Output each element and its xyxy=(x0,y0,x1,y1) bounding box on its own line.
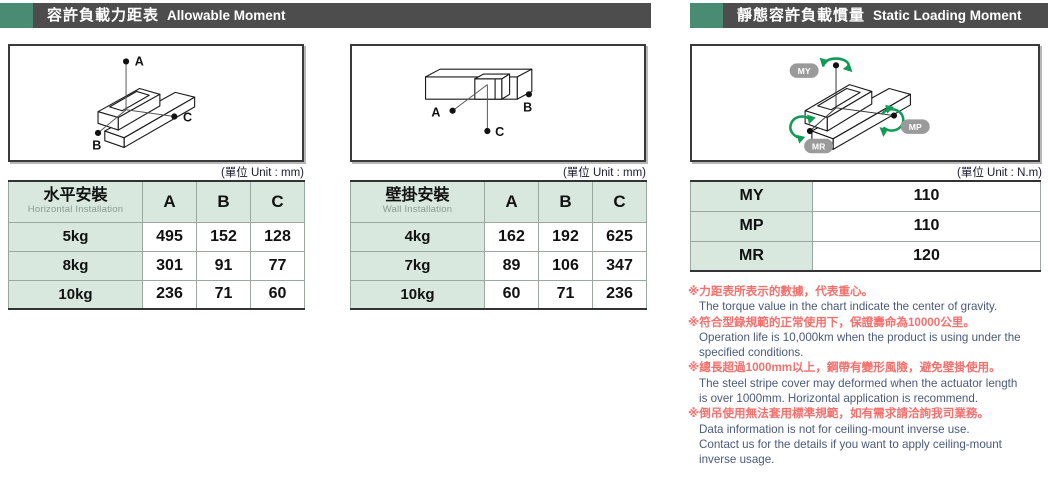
footnote-cn: ※總長超過1000mm以上，鋼帶有變形風險，避免壁掛使用。 xyxy=(688,360,1040,375)
svg-text:B: B xyxy=(92,138,101,152)
my-pill: MY xyxy=(790,63,819,77)
unit-caption-moment: (單位 Unit : N.m) xyxy=(790,164,1042,180)
table-header-cn: 壁掛安裝 xyxy=(352,188,483,205)
datasheet-page: 容許負載力距表 Allowable Moment A xyxy=(0,0,1048,479)
column-header-b: B xyxy=(539,181,593,222)
moment-label-my: MY xyxy=(691,181,813,211)
header-bar: 容許負載力距表 Allowable Moment xyxy=(33,3,651,28)
row-label: 7kg xyxy=(351,251,485,280)
row-label: 10kg xyxy=(351,280,485,309)
horizontal-installation-table: 水平安裝 Horizontal Installation A B C 5kg 4… xyxy=(8,180,305,310)
table-row: MR 120 xyxy=(691,241,1041,271)
cell-b: 91 xyxy=(197,251,251,280)
cell-c: 236 xyxy=(593,280,647,309)
column-header-a: A xyxy=(143,181,197,222)
cell-b: 71 xyxy=(197,280,251,309)
allowable-moment-section-header: 容許負載力距表 Allowable Moment xyxy=(0,3,651,28)
table-row: MP 110 xyxy=(691,211,1041,241)
unit-caption-horizontal: (單位 Unit : mm) xyxy=(54,164,304,180)
table-row: 7kg 89 106 347 xyxy=(351,251,647,280)
moment-label-mp: MP xyxy=(691,211,813,241)
column-header-b: B xyxy=(197,181,251,222)
cell-a: 236 xyxy=(143,280,197,309)
table-row: 5kg 495 152 128 xyxy=(9,222,305,251)
footnote-cn: ※力距表所表示的數據，代表重心。 xyxy=(688,284,1040,299)
mr-pill: MR xyxy=(804,139,833,153)
column-header-c: C xyxy=(251,181,305,222)
moment-value-mp: 110 xyxy=(813,211,1041,241)
cell-c: 60 xyxy=(251,280,305,309)
table-row: MY 110 xyxy=(691,181,1041,211)
cell-b: 71 xyxy=(539,280,593,309)
footnote-cn: ※倒吊使用無法套用標準規範，如有需求請洽詢我司業務。 xyxy=(688,406,1040,421)
moment-value-mr: 120 xyxy=(813,241,1041,271)
svg-text:MY: MY xyxy=(798,66,811,76)
cell-c: 347 xyxy=(593,251,647,280)
wall-installation-table: 壁掛安裝 Wall Installation A B C 4kg 162 192… xyxy=(350,180,647,310)
svg-text:A: A xyxy=(431,106,440,120)
svg-text:C: C xyxy=(495,125,504,139)
cell-b: 152 xyxy=(197,222,251,251)
footnote-en: Contact us for the details if you want t… xyxy=(688,437,1040,452)
header-accent-block xyxy=(0,3,33,28)
table-header-cn: 水平安裝 xyxy=(10,188,141,205)
static-loading-moment-diagram: MY MP MR xyxy=(690,44,1040,162)
column-header-a: A xyxy=(485,181,539,222)
svg-text:MP: MP xyxy=(909,122,922,132)
table-row: 10kg 60 71 236 xyxy=(351,280,647,309)
horizontal-installation-diagram: A C B xyxy=(8,44,304,162)
column-header-c: C xyxy=(593,181,647,222)
cell-a: 89 xyxy=(485,251,539,280)
table-row: 4kg 162 192 625 xyxy=(351,222,647,251)
header-bar: 靜態容許負載慣量 Static Loading Moment xyxy=(723,3,1048,28)
cell-a: 301 xyxy=(143,251,197,280)
table-row: 8kg 301 91 77 xyxy=(9,251,305,280)
cell-c: 128 xyxy=(251,222,305,251)
cell-a: 162 xyxy=(485,222,539,251)
table-header-en: Horizontal Installation xyxy=(10,205,141,215)
header-title-en: Allowable Moment xyxy=(167,9,286,23)
footnote-en: Data information is not for ceiling-moun… xyxy=(688,422,1040,437)
header-title-en: Static Loading Moment xyxy=(873,9,1022,23)
table-row: 10kg 236 71 60 xyxy=(9,280,305,309)
table-header-label: 壁掛安裝 Wall Installation xyxy=(351,181,485,222)
header-title-cn: 靜態容許負載慣量 xyxy=(737,8,865,23)
footnote-en: The torque value in the chart indicate t… xyxy=(688,299,1040,314)
footnote-en: The steel stripe cover may deformed when… xyxy=(688,376,1040,391)
table-header-row: 壁掛安裝 Wall Installation A B C xyxy=(351,181,647,222)
svg-text:MR: MR xyxy=(812,141,826,151)
row-label: 5kg xyxy=(9,222,143,251)
cell-b: 106 xyxy=(539,251,593,280)
row-label: 10kg xyxy=(9,280,143,309)
footnotes: ※力距表所表示的數據，代表重心。 The torque value in the… xyxy=(688,284,1040,468)
svg-text:B: B xyxy=(523,101,532,115)
footnote-cn: ※符合型錄規範的正常使用下，保證壽命為10000公里。 xyxy=(688,315,1040,330)
wall-installation-diagram: A B C xyxy=(350,44,646,162)
footnote-item: ※力距表所表示的數據，代表重心。 The torque value in the… xyxy=(688,284,1040,315)
cell-a: 60 xyxy=(485,280,539,309)
footnote-en: is over 1000mm. Horizontal application i… xyxy=(688,391,1040,406)
table-header-label: 水平安裝 Horizontal Installation xyxy=(9,181,143,222)
row-label: 4kg xyxy=(351,222,485,251)
svg-text:C: C xyxy=(183,110,192,124)
cell-c: 625 xyxy=(593,222,647,251)
row-label: 8kg xyxy=(9,251,143,280)
footnote-en: Operation life is 10,000km when the prod… xyxy=(688,330,1040,345)
static-loading-moment-section-header: 靜態容許負載慣量 Static Loading Moment xyxy=(690,3,1048,28)
header-title-cn: 容許負載力距表 xyxy=(47,8,159,23)
cell-a: 495 xyxy=(143,222,197,251)
header-accent-block xyxy=(690,3,723,28)
svg-text:A: A xyxy=(135,54,144,68)
footnote-en: inverse usage. xyxy=(688,452,1040,467)
footnote-en: specified conditions. xyxy=(688,345,1040,360)
table-header-en: Wall Installation xyxy=(352,205,483,215)
footnote-item: ※倒吊使用無法套用標準規範，如有需求請洽詢我司業務。 Data informat… xyxy=(688,406,1040,467)
mp-pill: MP xyxy=(901,119,930,133)
footnote-item: ※總長超過1000mm以上，鋼帶有變形風險，避免壁掛使用。 The steel … xyxy=(688,360,1040,406)
table-header-row: 水平安裝 Horizontal Installation A B C xyxy=(9,181,305,222)
moment-value-my: 110 xyxy=(813,181,1041,211)
cell-b: 192 xyxy=(539,222,593,251)
static-loading-moment-table: MY 110 MP 110 MR 120 xyxy=(690,180,1041,272)
footnote-item: ※符合型錄規範的正常使用下，保證壽命為10000公里。 Operation li… xyxy=(688,315,1040,361)
cell-c: 77 xyxy=(251,251,305,280)
unit-caption-wall: (單位 Unit : mm) xyxy=(396,164,646,180)
moment-label-mr: MR xyxy=(691,241,813,271)
